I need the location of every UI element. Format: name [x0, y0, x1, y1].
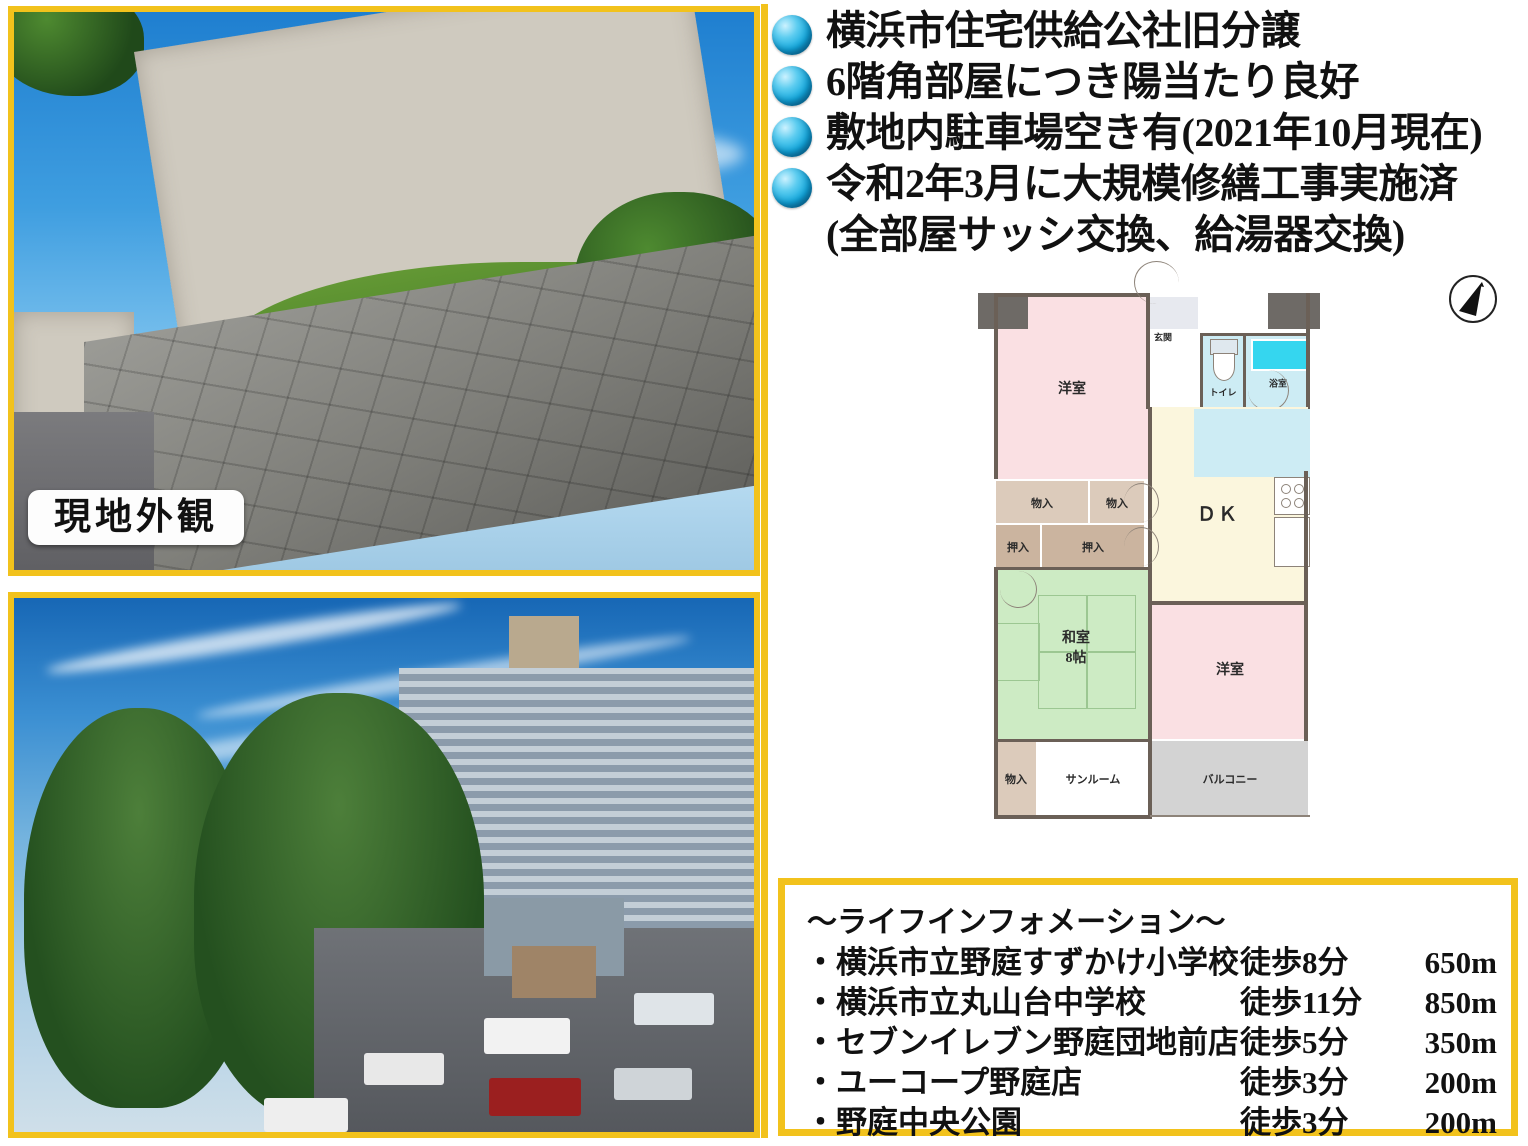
photo-view-canvas	[14, 598, 754, 1132]
life-info-name: ・セブンイレブン野庭団地前店	[805, 1023, 1240, 1063]
life-info-row: ・セブンイレブン野庭団地前店 徒歩5分 350m	[805, 1023, 1511, 1063]
blue-orb-bullet-icon	[772, 117, 812, 157]
toilet-bowl	[1213, 353, 1235, 381]
room-label-storage-c: 物入	[1005, 771, 1027, 787]
room-label-bedroom-se: 洋室	[1216, 659, 1244, 679]
room-label-japanese-size: 8帖	[1066, 647, 1087, 667]
life-info-row: ・野庭中央公園 徒歩3分 200m	[805, 1103, 1511, 1143]
highlight-text: 6階角部屋につき陽当たり良好	[826, 59, 1359, 105]
photo-exterior-canvas	[14, 12, 754, 570]
life-info-name: ・横浜市立野庭すずかけ小学校	[805, 943, 1240, 983]
highlight-item: 6階角部屋につき陽当たり良好	[772, 59, 1524, 106]
highlights-list: 横浜市住宅供給公社旧分譲 6階角部屋につき陽当たり良好 敷地内駐車場空き有(20…	[772, 8, 1524, 258]
wall	[994, 567, 1148, 570]
wet-area-overlay	[1194, 409, 1310, 479]
closet-door-swing	[1124, 527, 1159, 566]
wall	[1150, 601, 1308, 605]
life-info-row: ・横浜市立丸山台中学校 徒歩11分 850m	[805, 983, 1511, 1023]
wall	[1244, 333, 1310, 336]
room-label-sunroom: サンルーム	[1066, 771, 1121, 787]
life-info-name: ・横浜市立丸山台中学校	[805, 983, 1240, 1023]
wall	[1148, 741, 1152, 819]
wall	[1150, 815, 1310, 817]
north-arrow-compass-icon	[1446, 272, 1500, 326]
room-label-entrance: 玄関	[1154, 331, 1172, 344]
life-info-distance: 850m	[1388, 983, 1511, 1023]
life-info-time: 徒歩3分	[1240, 1103, 1388, 1143]
life-info-distance: 200m	[1388, 1103, 1511, 1143]
life-info-title: ～ライフインフォメーション～	[807, 897, 1511, 941]
life-info-time: 徒歩3分	[1240, 1063, 1388, 1103]
car	[264, 1098, 348, 1132]
blue-orb-bullet-icon	[772, 15, 812, 55]
life-information-box: ～ライフインフォメーション～ ・横浜市立野庭すずかけ小学校 徒歩8分 650m …	[778, 878, 1518, 1136]
life-info-name: ・ユーコープ野庭店	[805, 1063, 1240, 1103]
car	[364, 1053, 444, 1085]
wall	[1306, 293, 1310, 413]
highlight-text: 敷地内駐車場空き有(2021年10月現在)	[826, 110, 1482, 156]
room-label-bedroom-nw: 洋室	[1058, 378, 1086, 398]
highlight-item: 横浜市住宅供給公社旧分譲	[772, 8, 1524, 55]
room-label-balcony: バルコニー	[1203, 771, 1258, 787]
wall	[1146, 297, 1150, 409]
room-label-closet-b: 押入	[1082, 539, 1104, 555]
car	[489, 1078, 581, 1116]
highlight-text: 令和2年3月に大規模修繕工事実施済	[826, 161, 1458, 207]
car	[484, 1018, 570, 1054]
photo-column: 現地外観 眺望写真	[0, 0, 766, 1146]
wall	[994, 815, 1150, 819]
wall	[994, 293, 998, 479]
life-info-time: 徒歩11分	[1240, 983, 1388, 1023]
wall	[994, 569, 998, 741]
life-info-row: ・ユーコープ野庭店 徒歩3分 200m	[805, 1063, 1511, 1103]
wall	[1200, 333, 1203, 413]
room-label-japanese: 和室	[1062, 627, 1090, 647]
room-label-storage-a: 物入	[1031, 495, 1053, 511]
life-info-time: 徒歩8分	[1240, 943, 1388, 983]
life-info-distance: 650m	[1388, 943, 1511, 983]
wall	[994, 741, 998, 819]
life-info-time: 徒歩5分	[1240, 1023, 1388, 1063]
highlight-item: 令和2年3月に大規模修繕工事実施済	[772, 161, 1524, 208]
life-info-name: ・野庭中央公園	[805, 1103, 1240, 1143]
tatami-mat	[1086, 595, 1136, 653]
car	[634, 993, 714, 1025]
photo-caption-exterior: 現地外観	[28, 490, 244, 545]
highlight-text: 横浜市住宅供給公社旧分譲	[826, 8, 1300, 54]
wall	[1200, 333, 1246, 336]
highlight-item: 敷地内駐車場空き有(2021年10月現在)	[772, 110, 1524, 157]
bathtub	[1251, 339, 1309, 371]
bath-door-swing	[1248, 370, 1289, 411]
balcony-slab-nw	[978, 293, 1028, 329]
photo-exterior: 現地外観	[8, 6, 760, 576]
entrance-door-swing	[1134, 261, 1179, 304]
tatami-mat	[996, 623, 1040, 681]
balcony-slab-ne	[1268, 293, 1320, 329]
vertical-divider	[761, 4, 768, 1138]
japanese-door-swing	[1000, 571, 1037, 608]
dk-door-swing	[1124, 483, 1159, 522]
floorplan: 洋室 玄関 トイレ 浴室 洗面室 PS	[938, 255, 1358, 865]
highlight-continuation-text: (全部屋サッシ交換、給湯器交換)	[826, 212, 1524, 258]
life-info-row: ・横浜市立野庭すずかけ小学校 徒歩8分 650m	[805, 943, 1511, 983]
life-info-distance: 350m	[1388, 1023, 1511, 1063]
entrance-structure	[512, 946, 596, 998]
wall	[1148, 603, 1152, 741]
room-label-toilet: トイレ	[1209, 386, 1236, 399]
blue-orb-bullet-icon	[772, 168, 812, 208]
wall	[1304, 603, 1308, 741]
life-info-distance: 200m	[1388, 1063, 1511, 1103]
car	[614, 1068, 692, 1100]
wall	[1304, 471, 1308, 603]
room-label-closet-a: 押入	[1007, 539, 1029, 555]
tatami-mat	[1086, 651, 1136, 709]
blue-orb-bullet-icon	[772, 66, 812, 106]
room-label-dk: ＤＫ	[1197, 500, 1239, 527]
wall	[994, 293, 1150, 297]
photo-view: 眺望写真	[8, 592, 760, 1138]
wall	[994, 739, 1148, 742]
right-column: 横浜市住宅供給公社旧分譲 6階角部屋につき陽当たり良好 敷地内駐車場空き有(20…	[768, 0, 1528, 1146]
